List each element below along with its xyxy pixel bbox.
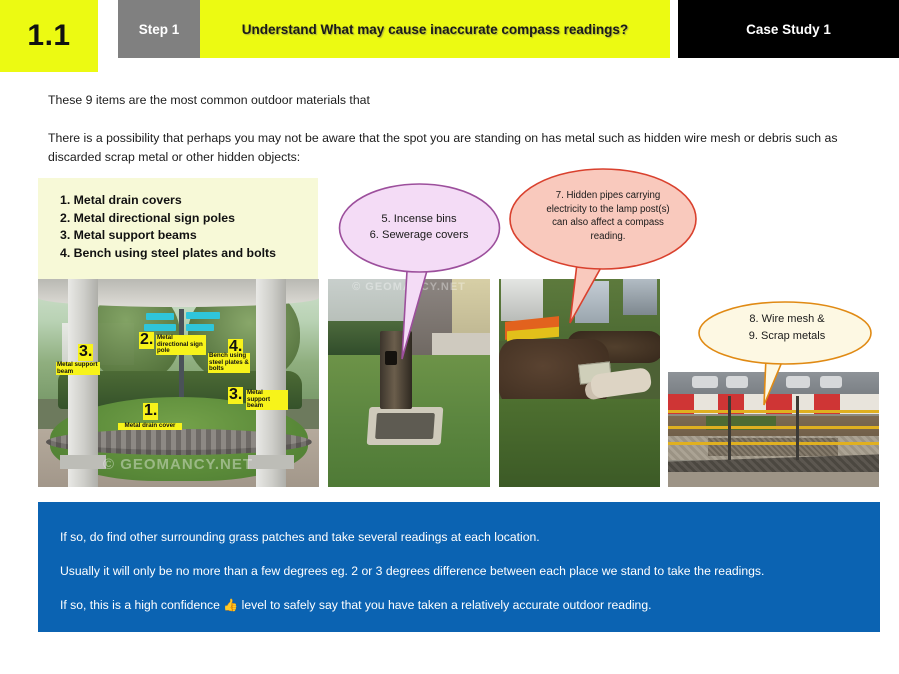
callout-hidden-pipes [508, 167, 708, 327]
case-study-badge: Case Study 1 [678, 0, 899, 58]
callout-wire-mesh-scrap [698, 301, 876, 411]
annotation-number: 3. [78, 344, 93, 361]
annotation-number: 3. [228, 387, 243, 404]
safety-railing [668, 442, 879, 445]
safety-railing [668, 426, 879, 429]
callout-bubble [699, 302, 871, 364]
annotation-caption: Metal support beam [246, 390, 288, 410]
sign-blade [146, 313, 174, 320]
watermark: © GEOMANCY.NET [68, 456, 288, 473]
intro-paragraph-1: These 9 items are the most common outdoo… [48, 93, 848, 107]
callout-bubble [510, 169, 696, 269]
callout-incense-sewerage [338, 183, 501, 365]
list-item: 1. Metal drain covers [60, 192, 318, 210]
summary-line: Usually it will only be no more than a f… [60, 554, 880, 588]
annotation-caption: Bench using steel plates & bolts [208, 353, 250, 373]
sewerage-cover [375, 413, 435, 439]
page-title: Understand What may cause inaccurate com… [236, 22, 634, 37]
thumbs-up-icon: 👍 [223, 598, 238, 612]
sign-blade [186, 312, 220, 319]
materials-list-box: 1. Metal drain covers 2. Metal direction… [38, 178, 318, 279]
section-number-label: 1.1 [27, 19, 70, 53]
sign-blade [144, 324, 176, 331]
list-item: 4. Bench using steel plates and bolts [60, 245, 318, 263]
step-badge: Step 1 [118, 0, 200, 58]
list-item: 3. Metal support beams [60, 227, 318, 245]
case-study-label: Case Study 1 [746, 22, 831, 37]
summary-text-after: level to safely say that you have taken … [238, 598, 651, 612]
sign-blade [186, 324, 214, 331]
slide-title-banner: Understand What may cause inaccurate com… [200, 0, 670, 58]
photo-park-pavilion: 3. Metal support beam 2. Metal direction… [38, 279, 319, 487]
summary-box: If so, do find other surrounding grass p… [38, 502, 880, 632]
list-item: 2. Metal directional sign poles [60, 210, 318, 228]
intro-paragraph-2: There is a possibility that perhaps you … [48, 129, 860, 167]
foreground-ground [668, 472, 879, 487]
annotation-number: 2. [139, 332, 154, 349]
summary-text-before: If so, this is a high confidence [60, 598, 223, 612]
grass-bottom [499, 399, 660, 487]
annotation-caption: Metal drain cover [118, 423, 182, 430]
summary-line: If so, do find other surrounding grass p… [60, 520, 880, 554]
annotation-caption: Metal support beam [56, 362, 100, 375]
callout-bubble [340, 184, 500, 272]
annotation-caption: Metal directional sign pole [156, 335, 206, 355]
header-bar: 1.1 Step 1 Understand What may cause ina… [0, 0, 899, 72]
summary-line-confidence: If so, this is a high confidence 👍 level… [60, 588, 880, 622]
step-label: Step 1 [139, 22, 180, 37]
annotation-number: 1. [143, 403, 158, 420]
section-number-block: 1.1 [0, 0, 98, 72]
